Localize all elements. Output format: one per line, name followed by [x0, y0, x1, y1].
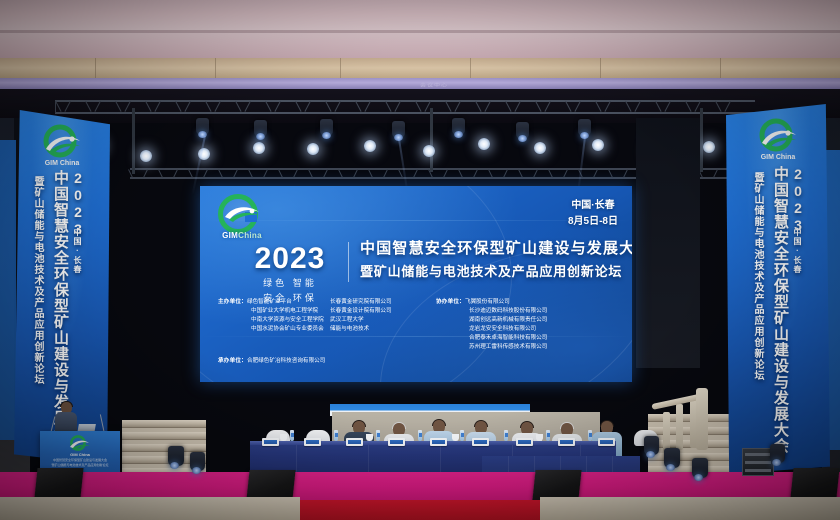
podium-title-line2: 暨矿山储能与电池技术及产品应用创新论坛 — [45, 463, 115, 468]
banner-right-year: 2023 — [790, 166, 806, 234]
water-bottle — [460, 430, 464, 441]
front-stone-step — [0, 497, 300, 520]
water-bottle — [588, 430, 592, 441]
stage-monitor-speaker — [532, 470, 581, 500]
par-lamp — [478, 138, 490, 150]
moving-head-light — [196, 118, 209, 135]
gim-logo-icon: GIM China — [67, 435, 93, 457]
host-item: 长春黄金设计院有限公司 — [330, 308, 392, 314]
banner-right-location: 中国·长春 — [792, 228, 803, 274]
truss-post-left — [132, 108, 135, 174]
par-lamp — [423, 145, 435, 157]
name-placard — [430, 438, 447, 446]
tea-cup — [536, 434, 543, 441]
lighting-truss-upper — [55, 100, 755, 114]
main-led-screen: GIMChina 中国·长春 8月5日-8日 2023 绿色 智能 安全 环保 … — [200, 186, 632, 382]
host-label: 主办单位： — [218, 298, 247, 307]
banner-right: GIM China 2023 中国·长春 中国智慧安全环保型矿山建设与发展大会 … — [726, 104, 830, 474]
screen-year: 2023 — [238, 244, 342, 274]
coorganizer-item: 飞翼股份有限公司 — [465, 299, 510, 305]
left-led-sliver — [0, 140, 16, 440]
par-lamp — [703, 141, 715, 153]
front-stone-step — [540, 497, 840, 520]
moving-head-light — [320, 119, 333, 136]
organizer-name: 合肥绿色矿冶科技咨询有限公司 — [247, 358, 325, 364]
title-divider — [348, 242, 349, 282]
gim-china-logo: GIMChina — [214, 194, 270, 244]
coorganizer-item: 长沙迪迈数码科技股份有限公司 — [469, 308, 547, 314]
par-lamp — [253, 142, 265, 154]
floor-moving-light — [644, 436, 659, 455]
water-bottle — [504, 430, 508, 441]
banner-left-location: 中国·长春 — [72, 228, 83, 274]
sponsor-block: 主办单位：绿色智能矿业平台 中国矿业大学机电工程学院 中南大学资源与安全工程学院… — [218, 298, 624, 366]
gim-logo-icon: GIM China — [38, 124, 86, 168]
moving-head-light — [452, 118, 465, 135]
truss-post-right — [700, 108, 703, 172]
coorganizer-item: 龙岩龙安安全科技有限公司 — [469, 326, 536, 332]
svg-text:GIM China: GIM China — [45, 160, 80, 167]
screen-title-main: 中国智慧安全环保型矿山建设与发展大会 — [360, 240, 622, 259]
moving-head-light — [254, 120, 267, 137]
moving-head-light — [392, 121, 405, 138]
tea-cup — [452, 434, 459, 441]
host-item: 绿色智能矿业平台 — [247, 299, 292, 305]
coorganizer-column: 协办单位：飞翼股份有限公司 长沙迪迈数码科技股份有限公司 湖南创远高新机械有限责… — [436, 298, 624, 352]
name-placard — [516, 438, 533, 446]
host-item: 中国水泥协会矿山专业委员会 — [251, 326, 324, 332]
screen-dates: 8月5日-8日 — [568, 214, 618, 230]
banner-right-title-sub: 暨矿山储能与电池技术及产品应用创新论坛 — [750, 172, 765, 381]
moving-head-light — [578, 119, 591, 136]
floor-moving-light — [692, 458, 708, 478]
name-placard — [472, 438, 489, 446]
truss-post-center — [430, 108, 433, 172]
stage-monitor-speaker — [790, 468, 839, 498]
host-column-1: 主办单位：绿色智能矿业平台 中国矿业大学机电工程学院 中南大学资源与安全工程学院… — [218, 298, 330, 352]
host-item: 储能与电池技术 — [330, 326, 369, 332]
newel-post — [696, 388, 708, 450]
name-placard — [262, 438, 279, 446]
logo-swoosh-icon — [223, 203, 261, 223]
name-placard — [558, 438, 575, 446]
name-placard — [388, 438, 405, 446]
cornice-band — [0, 58, 840, 80]
floor-moving-light — [664, 448, 680, 468]
par-lamp — [364, 140, 376, 152]
par-lamp — [140, 150, 152, 162]
logo-text: GIMChina — [214, 231, 270, 240]
floor-moving-light — [190, 452, 205, 471]
water-bottle — [290, 430, 294, 441]
banner-right-logo: GIM China — [754, 118, 802, 162]
par-lamp — [592, 139, 604, 151]
host-item: 中南大学资源与安全工程学院 — [251, 317, 324, 323]
host-item: 中国矿业大学机电工程学院 — [251, 308, 318, 314]
floor-moving-light — [168, 446, 184, 466]
screen-location: 中国·长春 — [568, 198, 618, 214]
banner-left-logo: GIM China — [38, 124, 86, 168]
host-item: 武汉工程大学 — [330, 317, 364, 323]
tea-cup — [280, 434, 287, 441]
water-bottle — [418, 430, 422, 441]
organizer-label: 承办单位： — [218, 357, 247, 366]
balustrade-post — [676, 404, 683, 450]
coorganizer-label: 协办单位： — [436, 298, 465, 307]
ceiling-strip-text: 会议中心 — [420, 81, 448, 88]
screen-year-block: 2023 绿色 智能 安全 环保 — [238, 244, 342, 306]
name-placard — [304, 438, 321, 446]
podium-title-line1: 中国智慧安全环保型矿山建设与发展大会 — [45, 458, 115, 463]
right-backstage-gap — [636, 118, 700, 368]
water-bottle — [376, 430, 380, 441]
tea-cup — [366, 434, 373, 441]
floor-moving-light — [770, 444, 785, 463]
coorganizer-item: 合肥泰禾卓海智能科技有限公司 — [469, 335, 547, 341]
host-item: 长春黄金研究院有限公司 — [330, 299, 392, 305]
screen-title-sub: 暨矿山储能与电池技术及产品应用创新论坛 — [360, 261, 622, 280]
screen-title-block: 中国智慧安全环保型矿山建设与发展大会 暨矿山储能与电池技术及产品应用创新论坛 — [360, 240, 622, 280]
ceiling — [0, 0, 840, 62]
banner-left-title-sub: 暨矿山储能与电池技术及产品应用创新论坛 — [30, 176, 45, 385]
host-column-2: 长春黄金研究院有限公司 长春黄金设计院有限公司 武汉工程大学 储能与电池技术 — [330, 298, 436, 352]
name-placard — [346, 438, 363, 446]
gim-logo-icon: GIM China — [754, 118, 802, 162]
moving-head-light — [516, 122, 529, 139]
banner-right-title-main: 中国智慧安全环保型矿山建设与发展大会 — [770, 166, 791, 454]
coorganizer-item: 湖南创远高新机械有限责任公司 — [469, 317, 547, 323]
par-lamp — [534, 142, 546, 154]
water-bottle — [334, 430, 338, 441]
par-lamp — [307, 143, 319, 155]
stage-monitor-speaker — [246, 470, 295, 500]
screen-location-date: 中国·长春 8月5日-8日 — [568, 198, 618, 229]
stage-monitor-speaker — [34, 468, 83, 498]
coorganizer-item: 苏州理工雷科传感技术有限公司 — [469, 344, 547, 350]
conference-stage-photo: 会议中心 — [0, 0, 840, 520]
podium-logo: GIM China — [67, 435, 93, 457]
water-bottle — [546, 430, 550, 441]
svg-text:GIM China: GIM China — [70, 452, 91, 457]
organizer-row: 承办单位：合肥绿色矿冶科技咨询有限公司 — [218, 357, 624, 366]
name-placard — [598, 438, 615, 446]
balustrade-post — [663, 412, 670, 452]
svg-text:GIM China: GIM China — [761, 154, 796, 161]
screen-slogan-line1: 绿色 智能 — [238, 278, 342, 292]
